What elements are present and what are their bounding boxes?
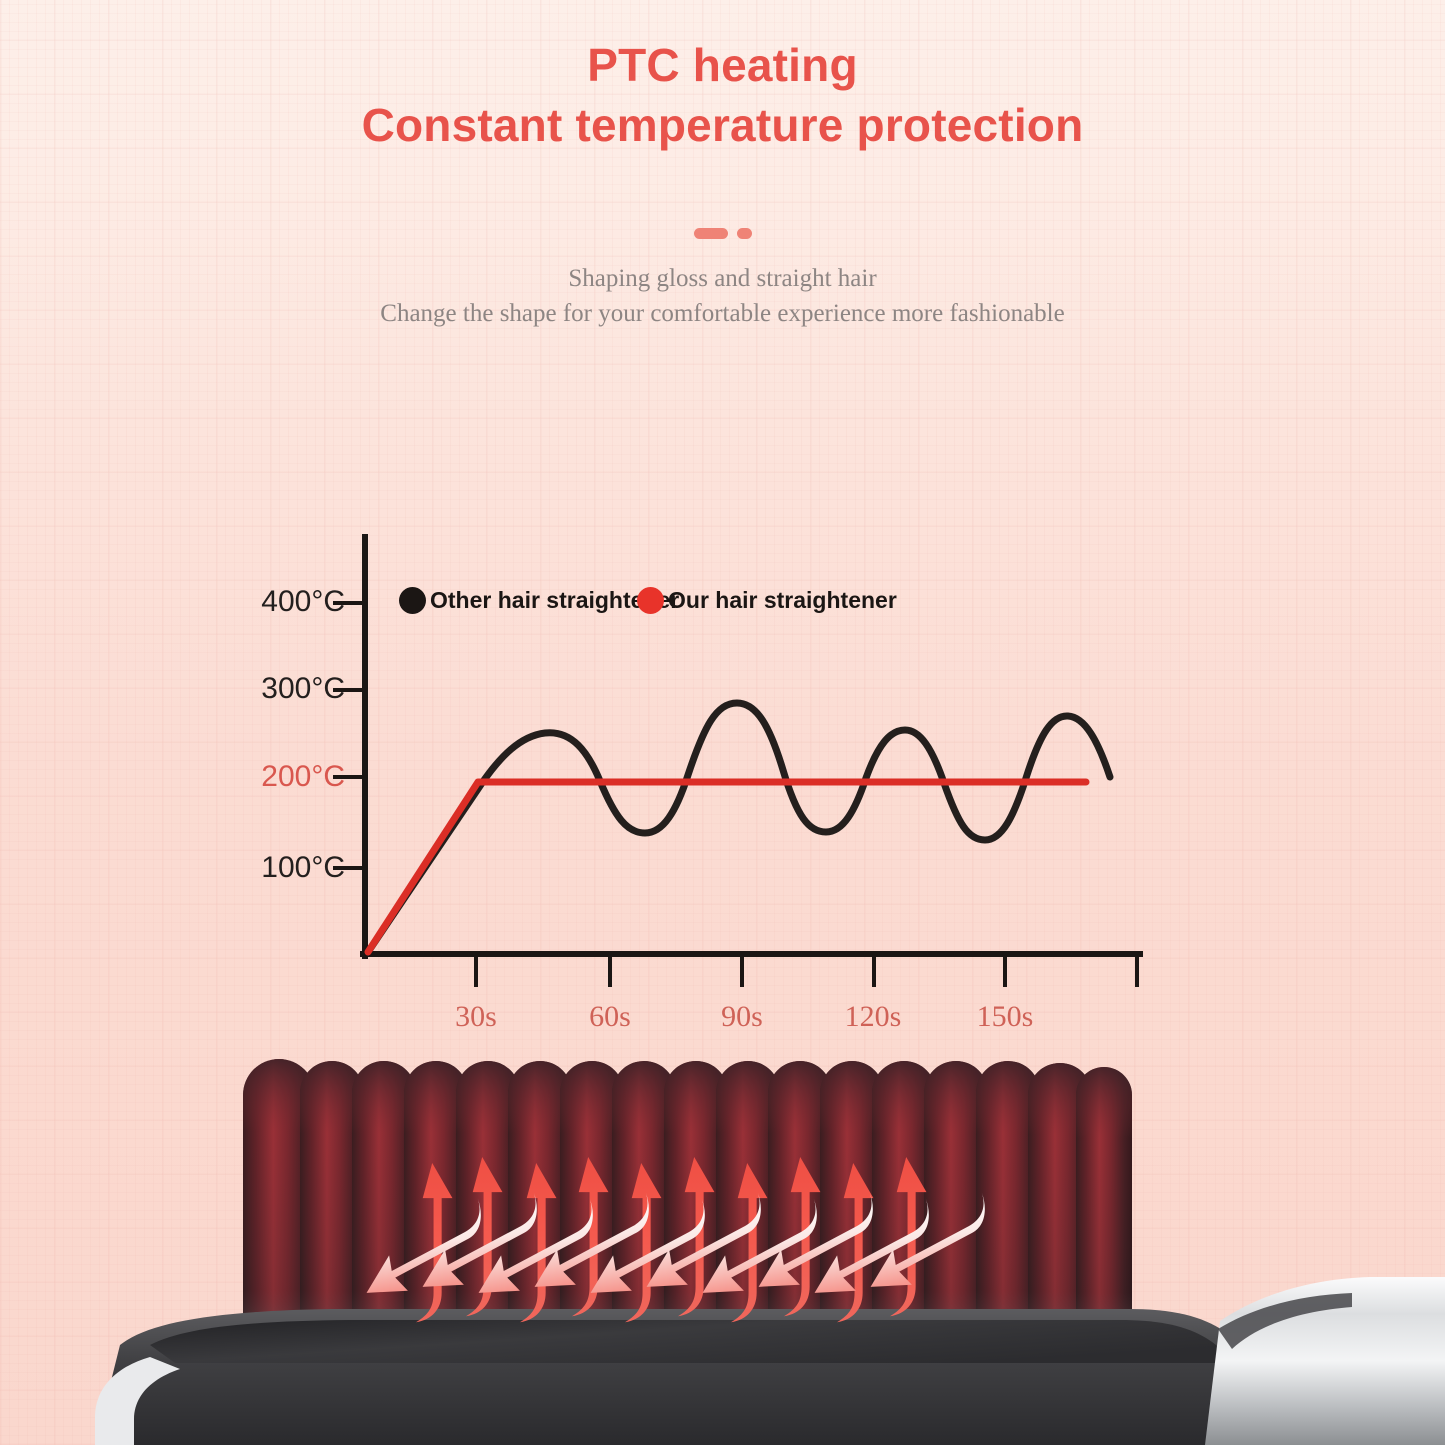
y-tick-label-100: 100°C — [235, 851, 345, 885]
divider — [0, 228, 1445, 239]
subtitle-line-1: Shaping gloss and straight hair — [0, 262, 1445, 297]
legend-label-ours: Our hair straightener — [668, 587, 897, 614]
legend-dot-red-icon — [637, 587, 664, 614]
temperature-chart: 400°C 300°C 200°C 100°C 30s 60s 90s 120s… — [0, 0, 1445, 1445]
series-our-hair-straightener — [368, 782, 1086, 952]
x-tick-label-150s: 150s — [950, 1000, 1060, 1034]
divider-dash-long — [694, 228, 728, 239]
x-tick-label-60s: 60s — [555, 1000, 665, 1034]
chart-canvas — [0, 0, 1445, 1445]
divider-dash-short — [737, 228, 752, 239]
promo-page: PTC heating Constant temperature protect… — [0, 0, 1445, 1445]
x-tick-marks — [476, 954, 1137, 987]
y-tick-marks — [333, 603, 365, 868]
headline-block: PTC heating Constant temperature protect… — [0, 40, 1445, 151]
series-other-hair-straightener — [368, 703, 1110, 952]
legend-item-ours: Our hair straightener — [637, 587, 897, 614]
legend-dot-black-icon — [399, 587, 426, 614]
page-title-primary: PTC heating — [0, 40, 1445, 92]
x-tick-label-90s: 90s — [687, 1000, 797, 1034]
y-tick-label-300: 300°C — [235, 672, 345, 706]
page-title-secondary: Constant temperature protection — [0, 100, 1445, 152]
subtitle-line-2: Change the shape for your comfortable ex… — [0, 297, 1445, 332]
x-tick-label-120s: 120s — [818, 1000, 928, 1034]
y-tick-label-200: 200°C — [235, 760, 345, 794]
subtitle-block: Shaping gloss and straight hair Change t… — [0, 262, 1445, 331]
y-tick-label-400: 400°C — [235, 585, 345, 619]
x-tick-label-30s: 30s — [421, 1000, 531, 1034]
